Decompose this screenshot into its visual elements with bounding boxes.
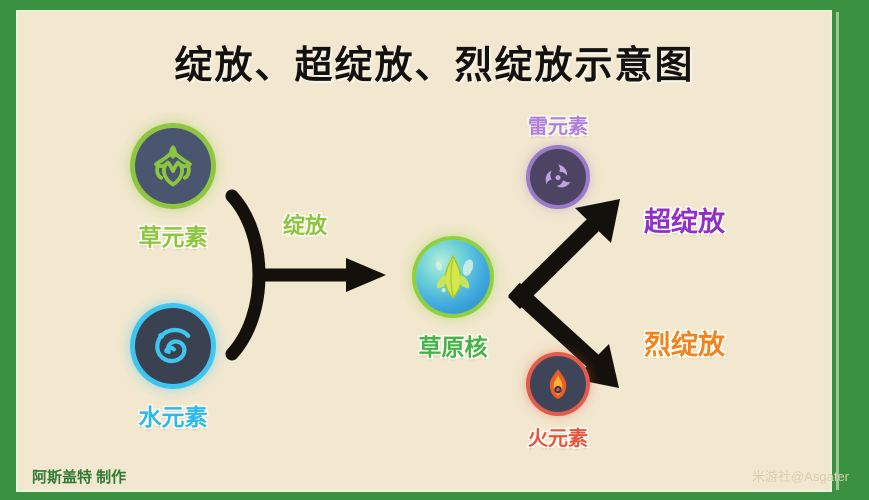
core-orb	[416, 240, 490, 314]
author-credit: 阿斯盖特 制作	[32, 466, 126, 487]
electro-element-icon	[538, 157, 578, 197]
hydro-element-icon	[146, 319, 200, 373]
pyro-orb	[530, 356, 586, 412]
node-pyro-label: 火元素	[508, 422, 608, 451]
node-core-label: 草原核	[388, 328, 518, 362]
node-electro-label: 雷元素	[508, 110, 608, 139]
node-hydro-element[interactable]: 水元素	[108, 308, 238, 432]
site-watermark: 米游社@Asgater	[752, 466, 849, 485]
page-title: 绽放、超绽放、烈绽放示意图	[0, 34, 869, 89]
result-burgeon: 烈绽放	[644, 323, 725, 362]
pyro-element-icon	[538, 364, 578, 404]
electro-orb	[530, 149, 586, 205]
dendro-element-icon	[146, 139, 200, 193]
diagram-canvas: 绽放、超绽放、烈绽放示意图 绽放	[0, 0, 869, 500]
hydro-orb	[135, 308, 211, 384]
node-pyro-element[interactable]: 火元素	[508, 356, 608, 451]
dendro-core-icon	[423, 247, 483, 307]
node-dendro-label: 草元素	[108, 218, 238, 252]
node-dendro-core[interactable]: 草原核	[388, 240, 518, 362]
edge-label-bloom: 绽放	[283, 208, 327, 240]
node-electro-element[interactable]: 雷元素	[508, 110, 608, 205]
result-hyperbloom: 超绽放	[644, 200, 725, 239]
node-dendro-element[interactable]: 草元素	[108, 128, 238, 252]
node-hydro-label: 水元素	[108, 398, 238, 432]
dendro-orb	[135, 128, 211, 204]
